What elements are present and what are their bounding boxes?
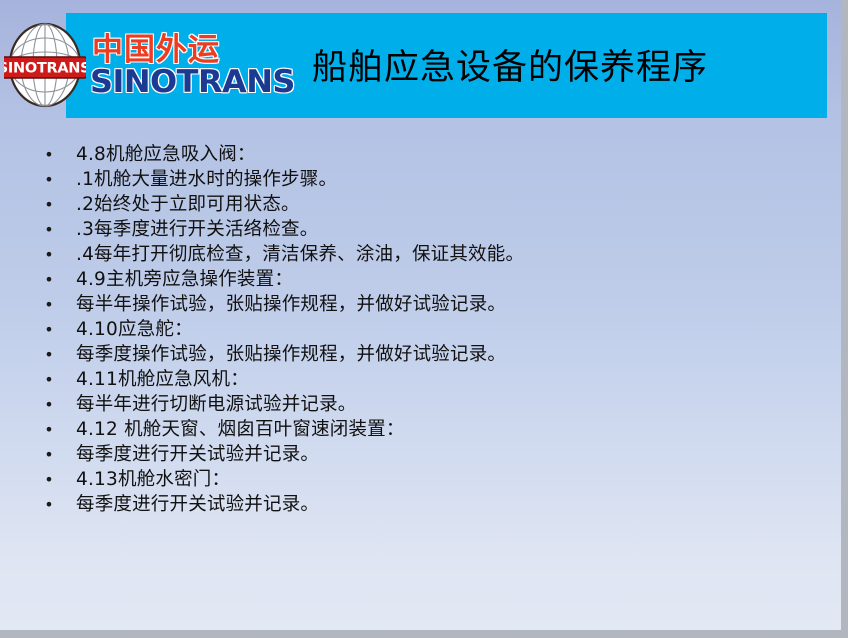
list-item: • 每季度进行开关试验并记录。 bbox=[0, 442, 848, 467]
list-item-label: 每半年进行切断电源试验并记录。 bbox=[76, 392, 357, 417]
bullet-icon: • bbox=[42, 442, 56, 467]
company-logo: SINOTRANS 中国外运 SINOTRANS bbox=[4, 22, 254, 110]
bullet-icon: • bbox=[42, 342, 56, 367]
list-item-label: 4.8机舱应急吸入阀： bbox=[76, 142, 256, 167]
window-frame-right bbox=[841, 0, 848, 638]
bullet-list: • 4.8机舱应急吸入阀： • .1机舱大量进水时的操作步骤。 • .2始终处于… bbox=[0, 142, 848, 517]
logo-english-name: SINOTRANS bbox=[90, 64, 295, 100]
list-item: • .1机舱大量进水时的操作步骤。 bbox=[0, 167, 848, 192]
bullet-icon: • bbox=[42, 217, 56, 242]
svg-text:SINOTRANS: SINOTRANS bbox=[4, 61, 86, 77]
list-item: • 4.12 机舱天窗、烟囱百叶窗速闭装置： bbox=[0, 417, 848, 442]
list-item: • 每半年进行切断电源试验并记录。 bbox=[0, 392, 848, 417]
window-frame-bottom bbox=[0, 630, 848, 638]
logo-chinese-name: 中国外运 bbox=[92, 24, 220, 69]
bullet-icon: • bbox=[42, 167, 56, 192]
bullet-icon: • bbox=[42, 142, 56, 167]
list-item-label: 每季度进行开关试验并记录。 bbox=[76, 442, 319, 467]
list-item: • 4.9主机旁应急操作装置： bbox=[0, 267, 848, 292]
list-item: • 4.13机舱水密门： bbox=[0, 467, 848, 492]
list-item: • 每季度进行开关试验并记录。 bbox=[0, 492, 848, 517]
bullet-icon: • bbox=[42, 267, 56, 292]
list-item-label: 每季度进行开关试验并记录。 bbox=[76, 492, 319, 517]
list-item: • .3每季度进行开关活络检查。 bbox=[0, 217, 848, 242]
list-item: • .4每年打开彻底检查，清洁保养、涂油，保证其效能。 bbox=[0, 242, 848, 267]
slide-title: 船舶应急设备的保养程序 bbox=[250, 40, 770, 96]
bullet-icon: • bbox=[42, 392, 56, 417]
bullet-icon: • bbox=[42, 417, 56, 442]
slide: 船舶应急设备的保养程序 SINOTRANS 中国外运 SINOTRANS • 4… bbox=[0, 0, 848, 638]
list-item: • 每季度操作试验，张贴操作规程，并做好试验记录。 bbox=[0, 342, 848, 367]
list-item-label: 4.10应急舵： bbox=[76, 317, 193, 342]
bullet-icon: • bbox=[42, 292, 56, 317]
bullet-icon: • bbox=[42, 317, 56, 342]
list-item: • 4.11机舱应急风机： bbox=[0, 367, 848, 392]
list-item-label: .4每年打开彻底检查，清洁保养、涂油，保证其效能。 bbox=[76, 242, 524, 267]
bullet-icon: • bbox=[42, 492, 56, 517]
list-item: • 4.8机舱应急吸入阀： bbox=[0, 142, 848, 167]
list-item-label: 4.12 机舱天窗、烟囱百叶窗速闭装置： bbox=[76, 417, 405, 442]
list-item: • .2始终处于立即可用状态。 bbox=[0, 192, 848, 217]
list-item: • 每半年操作试验，张贴操作规程，并做好试验记录。 bbox=[0, 292, 848, 317]
list-item-label: .2始终处于立即可用状态。 bbox=[76, 192, 300, 217]
list-item-label: 每季度操作试验，张贴操作规程，并做好试验记录。 bbox=[76, 342, 506, 367]
bullet-icon: • bbox=[42, 192, 56, 217]
list-item-label: 4.9主机旁应急操作装置： bbox=[76, 267, 293, 292]
sinotrans-banner: SINOTRANS bbox=[4, 57, 86, 78]
list-item-label: 4.13机舱水密门： bbox=[76, 467, 230, 492]
bullet-icon: • bbox=[42, 467, 56, 492]
bullet-icon: • bbox=[42, 242, 56, 267]
list-item: • 4.10应急舵： bbox=[0, 317, 848, 342]
list-item-label: .1机舱大量进水时的操作步骤。 bbox=[76, 167, 337, 192]
list-item-label: 每半年操作试验，张贴操作规程，并做好试验记录。 bbox=[76, 292, 506, 317]
globe-icon: SINOTRANS bbox=[4, 22, 86, 108]
list-item-label: .3每季度进行开关活络检查。 bbox=[76, 217, 318, 242]
bullet-icon: • bbox=[42, 367, 56, 392]
list-item-label: 4.11机舱应急风机： bbox=[76, 367, 249, 392]
